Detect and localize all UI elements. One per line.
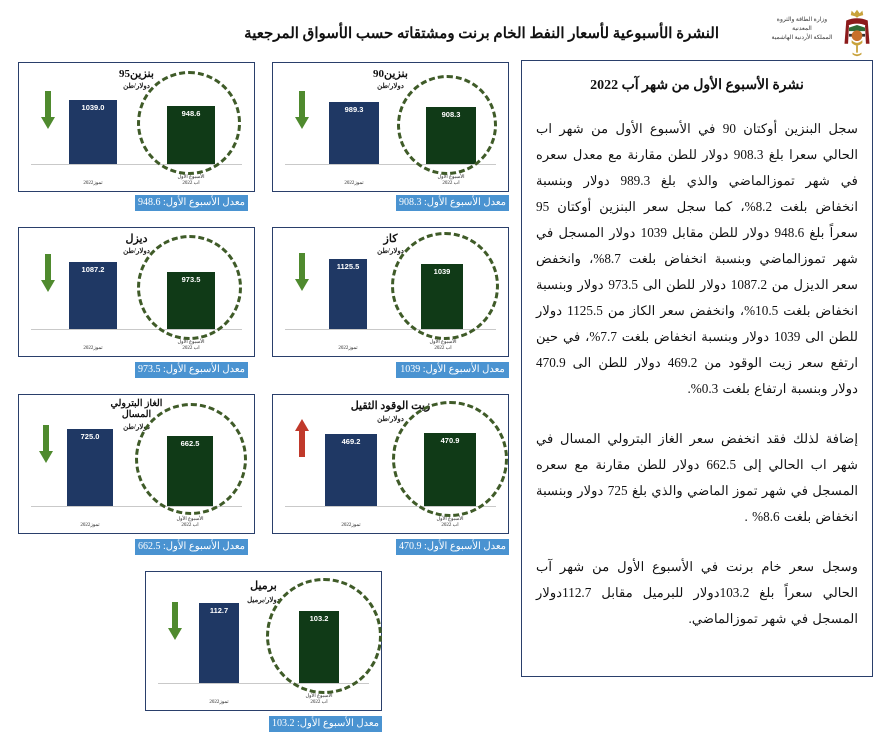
bar-value-previous: 1039.0 [82, 103, 105, 112]
chart-panel-kerosene[interactable]: كاز دولار/طن 1125.5 1039 تموز2022 الأسبو… [272, 227, 509, 357]
chart-title-heavy-fuel-oil: زيت الوقود الثقيل [273, 400, 508, 412]
xlabel-current: الأسبوع الأول اب 2022 [410, 517, 490, 529]
baseline-axis [285, 506, 496, 508]
avg-tag-brent-barrel: معدل الأسبوع الأول: 103.2 [269, 716, 382, 732]
xlabel-current-line2: اب 2022 [403, 346, 483, 352]
plot-area-gasoline95: 1039.0 948.6 تموز2022 الأسبوع الأول اب 2… [27, 91, 246, 165]
avg-tag-kerosene: معدل الأسبوع الأول: 1039 [396, 362, 509, 378]
chart-panel-lpg[interactable]: الغاز البترولي المسال دولار/طن 725.0 662… [18, 394, 255, 534]
xlabel-current: الأسبوع الأول اب 2022 [151, 175, 231, 187]
chart-title-gasoline95: بنزين95 [19, 68, 254, 80]
chart-panel-brent-barrel[interactable]: برميل دولار/برميل 112.7 103.2 تموز2022 ا… [145, 571, 382, 711]
avg-tag-heavy-fuel-oil: معدل الأسبوع الأول: 470.9 [396, 539, 509, 555]
xlabel-previous: تموز2022 [53, 181, 133, 187]
avg-tag-diesel: معدل الأسبوع الأول: 973.5 [135, 362, 248, 378]
xlabel-previous: تموز2022 [179, 700, 259, 706]
xlabel-current: الأسبوع الأول اب 2022 [403, 340, 483, 352]
bulletin-paragraph-3: وسجل سعر خام برنت في الأسبوع الأول من شه… [536, 554, 858, 632]
avg-tag-lpg: معدل الأسبوع الأول: 662.5 [135, 539, 248, 555]
avg-tag-gasoline95: معدل الأسبوع الأول: 948.6 [135, 195, 248, 211]
baseline-axis [285, 329, 496, 331]
bar-value-previous: 1087.2 [82, 265, 105, 274]
xlabel-current-line2: اب 2022 [151, 181, 231, 187]
xlabel-previous: تموز2022 [314, 181, 394, 187]
chart-title-kerosene: كاز [273, 233, 508, 245]
xlabel-previous: تموز2022 [311, 523, 391, 529]
bar-value-previous: 725.0 [81, 432, 100, 441]
bar-value-current: 103.2 [310, 614, 329, 623]
bulletin-paragraph-1: سجل البنزين أوكتان 90 في الأسبوع الأول م… [536, 116, 858, 402]
bar-previous-heavy-fuel-oil[interactable]: 469.2 [325, 434, 377, 506]
bar-current-gasoline95[interactable]: 948.6 [167, 106, 215, 164]
xlabel-current-line2: اب 2022 [150, 523, 230, 529]
xlabel-current: الأسبوع الأول اب 2022 [150, 517, 230, 529]
ministry-name-line1: وزارة الطاقة والثروة المعدنية [767, 16, 837, 34]
chart-title-lpg-line1: الغاز البترولي [19, 399, 254, 410]
baseline-axis [31, 164, 242, 166]
chart-title-lpg: الغاز البترولي المسال [19, 399, 254, 421]
xlabel-current: الأسبوع الأول اب 2022 [279, 694, 359, 706]
xlabel-previous: تموز2022 [308, 346, 388, 352]
bar-value-current: 908.3 [442, 110, 461, 119]
baseline-axis [31, 506, 242, 508]
plot-area-heavy-fuel-oil: 469.2 470.9 تموز2022 الأسبوع الأول اب 20… [281, 425, 500, 507]
page-title: النشرة الأسبوعية لأسعار النفط الخام برنت… [244, 24, 719, 43]
charts-grid: بنزين90 دولار/طن 989.3 908.3 تموز2022 ال… [14, 62, 509, 677]
jordan-coat-of-arms-icon [839, 8, 875, 58]
xlabel-current: الأسبوع الأول اب 2022 [151, 340, 231, 352]
avg-tag-gasoline90: معدل الأسبوع الأول: 908.3 [396, 195, 509, 211]
bulletin-paragraph-2: إضافة لذلك فقد انخفض سعر الغاز البترولي … [536, 426, 858, 530]
bar-current-gasoline90[interactable]: 908.3 [426, 107, 476, 164]
bar-value-current: 662.5 [181, 439, 200, 448]
xlabel-previous: تموز2022 [53, 346, 133, 352]
chart-title-brent-barrel: برميل [146, 580, 381, 592]
bar-value-current: 973.5 [182, 275, 201, 284]
plot-area-gasoline90: 989.3 908.3 تموز2022 الأسبوع الأول اب 20… [281, 91, 500, 165]
xlabel-current-line2: اب 2022 [279, 700, 359, 706]
bar-value-current: 1039 [434, 267, 451, 276]
chart-title-diesel: ديزل [19, 233, 254, 245]
xlabel-current: الأسبوع الأول اب 2022 [411, 175, 491, 187]
xlabel-current-line2: اب 2022 [411, 181, 491, 187]
xlabel-previous: تموز2022 [50, 523, 130, 529]
bar-current-kerosene[interactable]: 1039 [421, 264, 463, 329]
bar-value-previous: 1125.5 [337, 262, 360, 271]
bar-value-previous: 112.7 [210, 606, 228, 615]
bar-previous-diesel[interactable]: 1087.2 [69, 262, 117, 329]
chart-panel-heavy-fuel-oil[interactable]: زيت الوقود الثقيل دولار/طن 469.2 470.9 ت… [272, 394, 509, 534]
page-header: النشرة الأسبوعية لأسعار النفط الخام برنت… [0, 0, 889, 62]
chart-panel-diesel[interactable]: ديزل دولار/طن 1087.2 973.5 تموز2022 الأس… [18, 227, 255, 357]
bar-previous-brent-barrel[interactable]: 112.7 [199, 603, 239, 683]
xlabel-current-line2: اب 2022 [410, 523, 490, 529]
baseline-axis [285, 164, 496, 166]
bar-previous-gasoline95[interactable]: 1039.0 [69, 100, 117, 164]
bar-current-diesel[interactable]: 973.5 [167, 272, 215, 329]
bar-value-current: 470.9 [441, 436, 460, 445]
plot-area-lpg: 725.0 662.5 تموز2022 الأسبوع الأول اب 20… [27, 425, 246, 507]
bar-current-heavy-fuel-oil[interactable]: 470.9 [424, 433, 476, 506]
chart-unit-gasoline95: دولار/طن [19, 82, 254, 90]
ministry-name-line2: المملكة الأردنية الهاشمية [767, 34, 837, 43]
bulletin-text-panel: نشرة الأسبوع الأول من شهر آب 2022 سجل ال… [521, 60, 873, 677]
chart-unit-gasoline90: دولار/طن [273, 82, 508, 90]
bar-previous-kerosene[interactable]: 1125.5 [329, 259, 367, 329]
bar-previous-gasoline90[interactable]: 989.3 [329, 102, 379, 164]
ministry-logo: وزارة الطاقة والثروة المعدنية المملكة ال… [761, 4, 881, 60]
plot-area-diesel: 1087.2 973.5 تموز2022 الأسبوع الأول اب 2… [27, 256, 246, 330]
baseline-axis [31, 329, 242, 331]
bar-value-current: 948.6 [182, 109, 201, 118]
chart-title-gasoline90: بنزين90 [273, 68, 508, 80]
chart-panel-gasoline90[interactable]: بنزين90 دولار/طن 989.3 908.3 تموز2022 ال… [272, 62, 509, 192]
bar-value-previous: 989.3 [345, 105, 364, 114]
bulletin-page: النشرة الأسبوعية لأسعار النفط الخام برنت… [0, 0, 889, 687]
bar-current-lpg[interactable]: 662.5 [167, 436, 213, 506]
bulletin-title: نشرة الأسبوع الأول من شهر آب 2022 [536, 77, 858, 94]
xlabel-current-line2: اب 2022 [151, 346, 231, 352]
plot-area-kerosene: 1125.5 1039 تموز2022 الأسبوع الأول اب 20… [281, 256, 500, 330]
bar-current-brent-barrel[interactable]: 103.2 [299, 611, 339, 683]
chart-panel-gasoline95[interactable]: بنزين95 دولار/طن 1039.0 948.6 تموز2022 ا… [18, 62, 255, 192]
baseline-axis [158, 683, 369, 685]
ministry-name-text: وزارة الطاقة والثروة المعدنية المملكة ال… [767, 16, 837, 43]
chart-title-lpg-line2: المسال [19, 410, 254, 421]
plot-area-brent-barrel: 112.7 103.2 تموز2022 الأسبوع الأول اب 20… [154, 602, 373, 684]
bar-previous-lpg[interactable]: 725.0 [67, 429, 113, 506]
bar-value-previous: 469.2 [342, 437, 361, 446]
